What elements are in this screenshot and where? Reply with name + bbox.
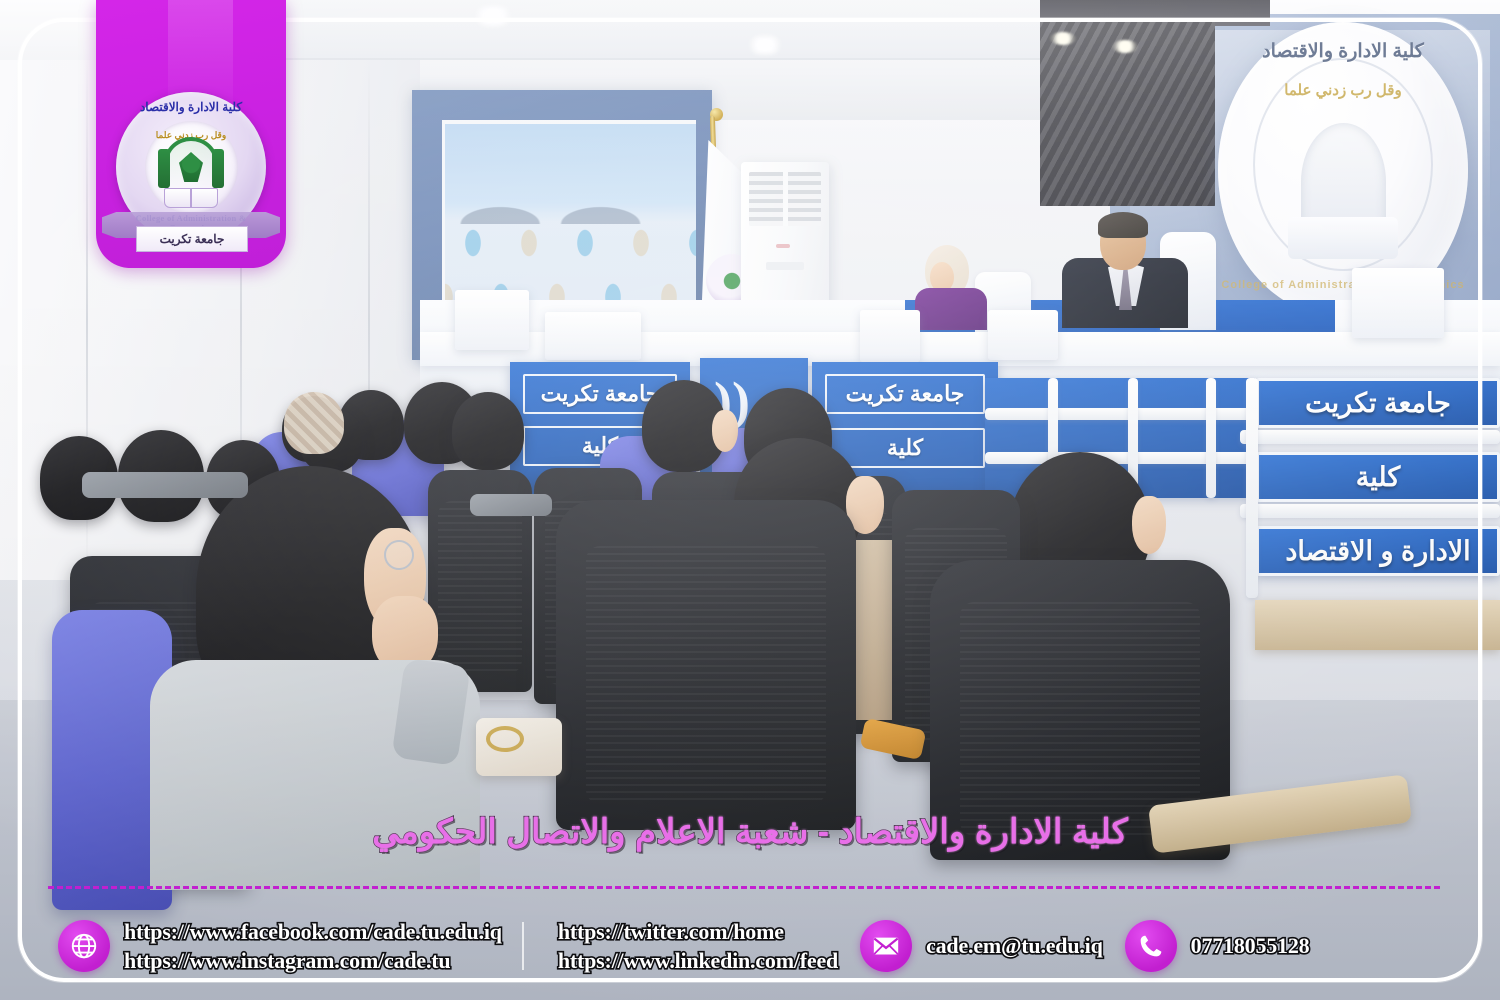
wood-ledge (1255, 600, 1500, 650)
footer-email-group: cade.em@tu.edu.iq (860, 920, 1103, 972)
seal-open-book-icon (164, 188, 218, 208)
blue-sign-right-line3: الادارة و الاقتصاد (1256, 526, 1500, 576)
podium-box-5 (1352, 268, 1444, 338)
footer-email-lines: cade.em@tu.edu.iq (926, 933, 1103, 959)
footer-divider-1 (522, 922, 524, 970)
emblem-arabic-gold: وقل رب زدني علما (1218, 81, 1468, 99)
email-address[interactable]: cade.em@tu.edu.iq (926, 933, 1103, 959)
footer-web-group: https://www.facebook.com/cade.tu.edu.iq … (58, 919, 502, 974)
footer-phone-lines: 07718055128 (1191, 933, 1310, 959)
seat-armrest-1 (82, 472, 248, 498)
podium-box-4 (988, 310, 1058, 360)
linkedin-url[interactable]: https://www.linkedin.com/feed (558, 948, 838, 974)
seal-ribbon-label: جامعة تكريت (136, 226, 248, 252)
sign-right-rail-1 (1240, 430, 1500, 444)
instagram-url[interactable]: https://www.instagram.com/cade.tu (124, 948, 502, 974)
panelist-woman-body (915, 288, 987, 330)
attendee-head-far-4 (452, 392, 524, 470)
ac-indicator (776, 244, 790, 248)
handbag (476, 718, 562, 776)
cabinet-divider-3 (1206, 378, 1216, 498)
spotlight-1 (1050, 32, 1076, 45)
phone-number[interactable]: 07718055128 (1191, 933, 1310, 959)
ceiling-light-1 (470, 6, 516, 26)
facebook-url[interactable]: https://www.facebook.com/cade.tu.edu.iq (124, 919, 502, 945)
attendee-face-mid-2 (1132, 496, 1166, 554)
envelope-icon[interactable] (860, 920, 912, 972)
attendee-patterned-scarf (284, 392, 344, 454)
seal-pillar-right (212, 149, 224, 188)
sign-right-rail-2 (1240, 504, 1500, 518)
seal-pillar-left (158, 149, 170, 188)
phone-icon[interactable] (1125, 920, 1177, 972)
panelist-man-hair (1098, 212, 1148, 238)
seat-near-right (556, 500, 856, 830)
blue-sign-left-2-line2: كلية (825, 428, 985, 468)
blue-sign-left-2-line1: جامعة تكريت (825, 374, 985, 414)
seat-armrest-2 (470, 494, 552, 516)
footer-social-group: https://twitter.com/home https://www.lin… (544, 919, 838, 974)
footer-web-lines: https://www.facebook.com/cade.tu.edu.iq … (124, 919, 502, 974)
seal-arabic-top: كلية الادارة والاقتصاد (116, 100, 266, 114)
attendee-foreground-collar (391, 658, 470, 766)
page-title: كلية الادارة والاقتصاد - شعبة الاعلام وا… (60, 812, 1440, 852)
footer-social-lines: https://twitter.com/home https://www.lin… (558, 919, 838, 974)
emblem-arabic-top: كلية الادارة والاقتصاد (1218, 40, 1468, 63)
dashed-separator (48, 886, 1440, 889)
twitter-url[interactable]: https://twitter.com/home (558, 919, 838, 945)
ceiling-pocket (280, 0, 1110, 60)
ac-grille (749, 172, 821, 226)
podium-box-2 (545, 312, 641, 360)
blue-sign-right-stack: جامعة تكريت كلية الادارة و الاقتصاد (1248, 378, 1500, 596)
blue-sign-right-line1: جامعة تكريت (1256, 378, 1500, 428)
globe-icon[interactable] (58, 920, 110, 972)
ac-badge (766, 262, 805, 270)
college-logo-badge: كلية الادارة والاقتصاد وقل رب زدني علما … (96, 0, 286, 268)
podium-box-3 (860, 310, 920, 362)
footer-phone-group: 07718055128 (1125, 920, 1310, 972)
podium-box-1 (455, 290, 529, 350)
poster-canvas: كلية الادارة والاقتصاد وقل رب زدني علما … (0, 0, 1500, 1000)
sign-right-post (1246, 378, 1258, 598)
spotlight-2 (1112, 40, 1138, 53)
emblem-base (1288, 217, 1398, 258)
ceiling-light-2 (745, 36, 785, 54)
attendee-face-far-5 (712, 410, 738, 452)
contact-footer: https://www.facebook.com/cade.tu.edu.iq … (58, 906, 1458, 986)
blue-sign-right-line2: كلية (1256, 452, 1500, 502)
